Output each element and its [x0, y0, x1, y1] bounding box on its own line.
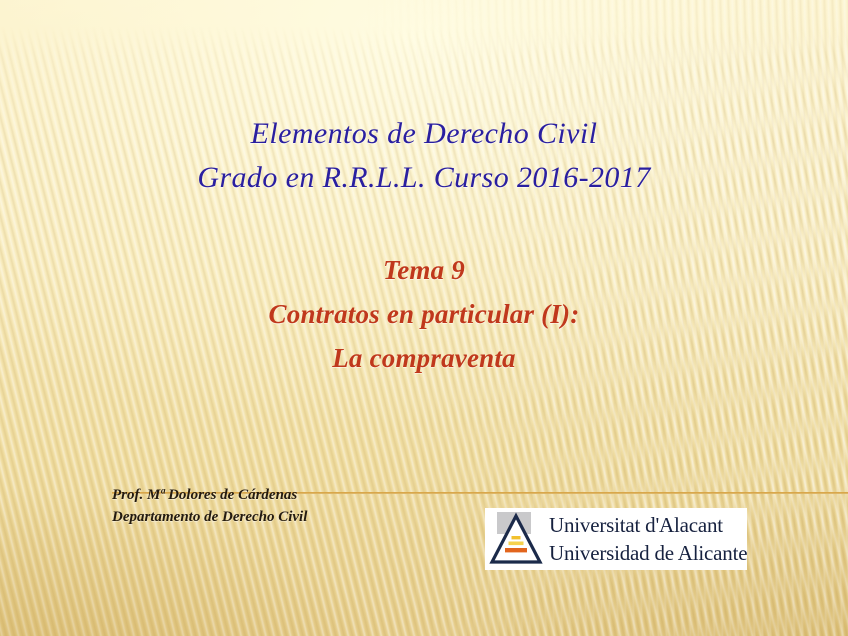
subtitle-line-3: La compraventa: [0, 336, 848, 380]
university-logo-text: Universitat d'Alacant Universidad de Ali…: [547, 511, 747, 567]
subtitle-line-1: Tema 9: [0, 248, 848, 292]
university-of-alicante-triangle-icon: [487, 510, 547, 568]
slide-title: Elementos de Derecho Civil Grado en R.R.…: [0, 112, 848, 200]
title-line-1: Elementos de Derecho Civil: [0, 112, 848, 156]
author-name: Prof. Mª Dolores de Cárdenas: [112, 484, 307, 506]
title-line-2: Grado en R.R.L.L. Curso 2016-2017: [0, 156, 848, 200]
logo-text-valencian: Universitat d'Alacant: [549, 511, 747, 539]
slide-content: Elementos de Derecho Civil Grado en R.R.…: [0, 0, 848, 636]
author-department: Departamento de Derecho Civil: [112, 506, 307, 528]
slide-subtitle: Tema 9 Contratos en particular (I): La c…: [0, 248, 848, 380]
presentation-slide: Elementos de Derecho Civil Grado en R.R.…: [0, 0, 848, 636]
author-block: Prof. Mª Dolores de Cárdenas Departament…: [112, 484, 307, 528]
university-logo: Universitat d'Alacant Universidad de Ali…: [485, 508, 747, 570]
logo-text-spanish: Universidad de Alicante: [549, 539, 747, 567]
subtitle-line-2: Contratos en particular (I):: [0, 292, 848, 336]
